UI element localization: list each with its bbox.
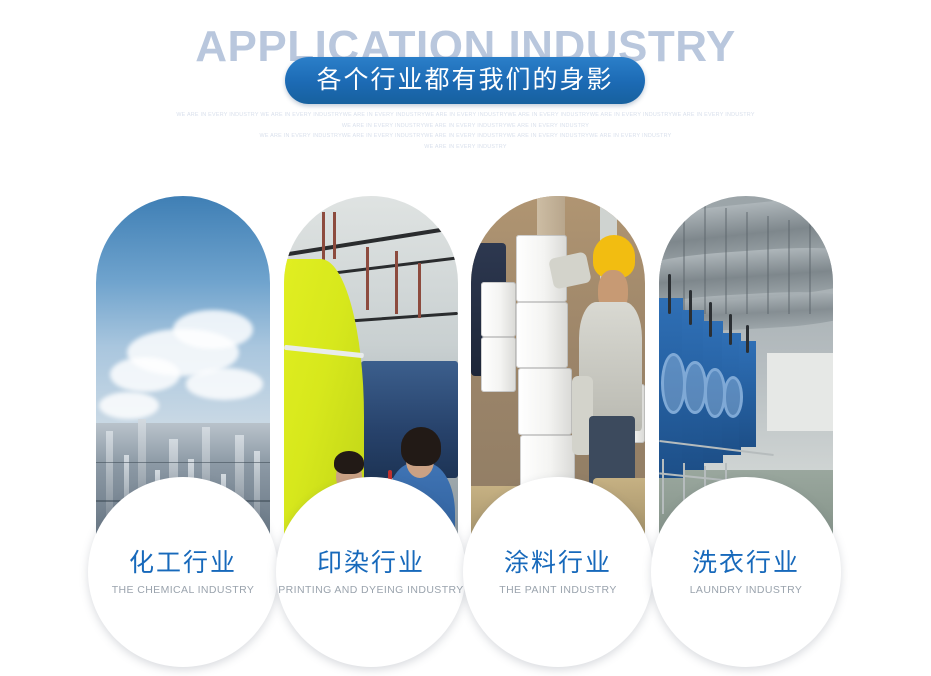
industry-badge-laundry[interactable]: 洗衣行业 LAUNDRY INDUSTRY — [651, 477, 841, 667]
industry-name-en: PRINTING AND DYEING INDUSTRY — [278, 584, 463, 597]
subtitle-pill: 各个行业都有我们的身影 — [285, 57, 645, 104]
application-industry-banner: APPLICATION INDUSTRY 各个行业都有我们的身影 WE ARE … — [0, 0, 931, 676]
banner-header: APPLICATION INDUSTRY 各个行业都有我们的身影 WE ARE … — [0, 0, 931, 175]
industry-name-cn: 印染行业 — [317, 548, 425, 578]
industry-name-cn: 涂料行业 — [504, 548, 612, 578]
industry-name-en: LAUNDRY INDUSTRY — [690, 584, 803, 597]
industry-card-paint[interactable]: 涂料行业 THE PAINT INDUSTRY — [471, 196, 645, 588]
micro-text-block: WE ARE IN EVERY INDUSTRY WE ARE IN EVERY… — [0, 110, 931, 152]
industry-card-printing-dyeing[interactable]: 印染行业 PRINTING AND DYEING INDUSTRY — [284, 196, 458, 588]
industry-card-list: 化工行业 THE CHEMICAL INDUSTRY — [0, 196, 931, 636]
micro-text-line-4: WE ARE IN EVERY INDUSTRY — [0, 142, 931, 153]
micro-text-line-2: WE ARE IN EVERY INDUSTRYWE ARE IN EVERY … — [0, 121, 931, 132]
micro-text-line-1: WE ARE IN EVERY INDUSTRY WE ARE IN EVERY… — [0, 110, 931, 121]
subtitle-pill-label: 各个行业都有我们的身影 — [316, 67, 613, 94]
industry-badge-paint[interactable]: 涂料行业 THE PAINT INDUSTRY — [463, 477, 653, 667]
industry-badge-chemical[interactable]: 化工行业 THE CHEMICAL INDUSTRY — [88, 477, 278, 667]
industry-card-laundry[interactable]: 洗衣行业 LAUNDRY INDUSTRY — [659, 196, 833, 588]
industry-name-cn: 洗衣行业 — [692, 548, 800, 578]
industry-name-en: THE PAINT INDUSTRY — [499, 584, 616, 597]
industry-card-chemical[interactable]: 化工行业 THE CHEMICAL INDUSTRY — [96, 196, 270, 588]
micro-text-line-3: WE ARE IN EVERY INDUSTRYWE ARE IN EVERY … — [0, 131, 931, 142]
industry-name-en: THE CHEMICAL INDUSTRY — [112, 584, 255, 597]
industry-name-cn: 化工行业 — [129, 548, 237, 578]
industry-badge-printing-dyeing[interactable]: 印染行业 PRINTING AND DYEING INDUSTRY — [276, 477, 466, 667]
